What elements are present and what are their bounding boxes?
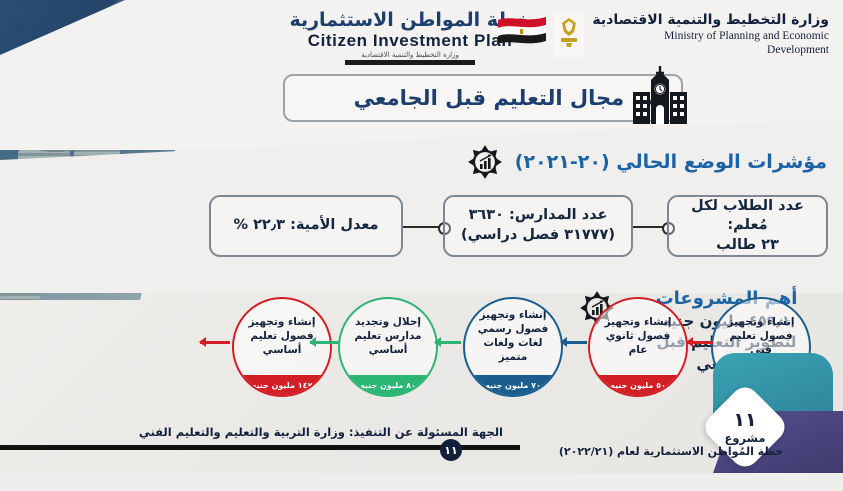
logo-subtitle: وزارة التخطيط والتنمية الاقتصادية xyxy=(280,51,540,59)
indicator-value: (٣١٧٧٧ فصل دراسي) xyxy=(461,226,615,246)
ministry-english-line1: Ministry of Planning and Economic xyxy=(592,29,829,43)
infographic-page: خطة المواطن الاستثمارية Citizen Investme… xyxy=(0,0,843,473)
ministry-english-line2: Development xyxy=(592,43,829,57)
project-bubble-basic-classrooms[interactable]: إنشاء وتجهيز فصول تعليم أساسي ١٤٧ مليون … xyxy=(232,297,332,397)
ministry-logo: وزارة التخطيط والتنمية الاقتصادية Minist… xyxy=(554,12,829,58)
project-bubble-school-renovation[interactable]: إحلال وتجديد مدارس تعليم أساسي ٨٠ مليون … xyxy=(338,297,438,397)
footer-page-number: ١١ xyxy=(440,439,462,461)
project-value: ٧٠ مليون جنيه xyxy=(465,375,561,395)
project-bubble-language-classrooms[interactable]: إنشاء وتجهيز فصول رسمي لغات ولغات متميز … xyxy=(463,297,563,397)
project-bubble-secondary-classrooms[interactable]: إنشاء وتجهيز فصول ثانوي عام ٥٠ مليون جني… xyxy=(588,297,688,397)
logo-rule xyxy=(345,60,475,65)
indicator-label: معدل الأمية: ٢٢٫٣ % xyxy=(233,216,378,236)
footer: الجهة المسئولة عن التنفيذ: وزارة التربية… xyxy=(0,427,843,473)
indicator-value: ٢٣ طالب xyxy=(716,236,779,256)
footer-responsible-entity: الجهة المسئولة عن التنفيذ: وزارة التربية… xyxy=(139,425,503,439)
project-value: ٨٠ مليون جنيه xyxy=(340,375,436,395)
title-text: في مجال التعليم قبل الجامعي xyxy=(283,74,683,122)
project-value: ١٤٧ مليون جنيه xyxy=(234,375,330,395)
gear-chart-icon xyxy=(465,142,505,182)
page-title: في مجال التعليم قبل الجامعي xyxy=(283,74,683,122)
indicator-label: عدد المدارس: ٣٦٣٠ xyxy=(469,206,608,226)
indicators-row: عدد الطلاب لكل مُعلم: ٢٣ طالب عدد المدار… xyxy=(0,195,843,257)
indicator-label: عدد الطلاب لكل مُعلم: xyxy=(669,197,826,236)
indicators-heading-text: مؤشرات الوضع الحالي (٢٠-٢٠٢١) xyxy=(515,151,827,173)
flow-arrow-1 xyxy=(200,341,230,344)
egypt-eagle-emblem-icon xyxy=(554,12,584,58)
project-label: إحلال وتجديد مدارس تعليم أساسي xyxy=(340,315,436,380)
school-building-icon xyxy=(625,64,691,126)
flow-arrow-3 xyxy=(435,341,461,344)
indicator-schools-count: عدد المدارس: ٣٦٣٠ (٣١٧٧٧ فصل دراسي) xyxy=(443,195,633,257)
footer-plan-title: خطة المُواطن الاستثمارية لعام (٢٠٢٢/٢١) xyxy=(559,445,783,458)
citizen-investment-plan-logo: خطة المواطن الاستثمارية Citizen Investme… xyxy=(280,10,540,65)
flow-arrow-2 xyxy=(310,341,340,344)
project-label: إنشاء وتجهيز فصول ثانوي عام xyxy=(590,315,686,380)
indicator-students-per-teacher: عدد الطلاب لكل مُعلم: ٢٣ طالب xyxy=(667,195,828,257)
egypt-flag-icon xyxy=(496,14,548,48)
project-value: ٥٠ مليون جنيه xyxy=(590,375,686,395)
indicators-section-heading: مؤشرات الوضع الحالي (٢٠-٢٠٢١) xyxy=(465,142,827,182)
flow-arrow-4 xyxy=(561,341,587,344)
ministry-arabic-name: وزارة التخطيط والتنمية الاقتصادية xyxy=(592,12,829,29)
flow-arrow-5 xyxy=(687,341,713,344)
indicator-illiteracy-rate: معدل الأمية: ٢٢٫٣ % xyxy=(209,195,403,257)
